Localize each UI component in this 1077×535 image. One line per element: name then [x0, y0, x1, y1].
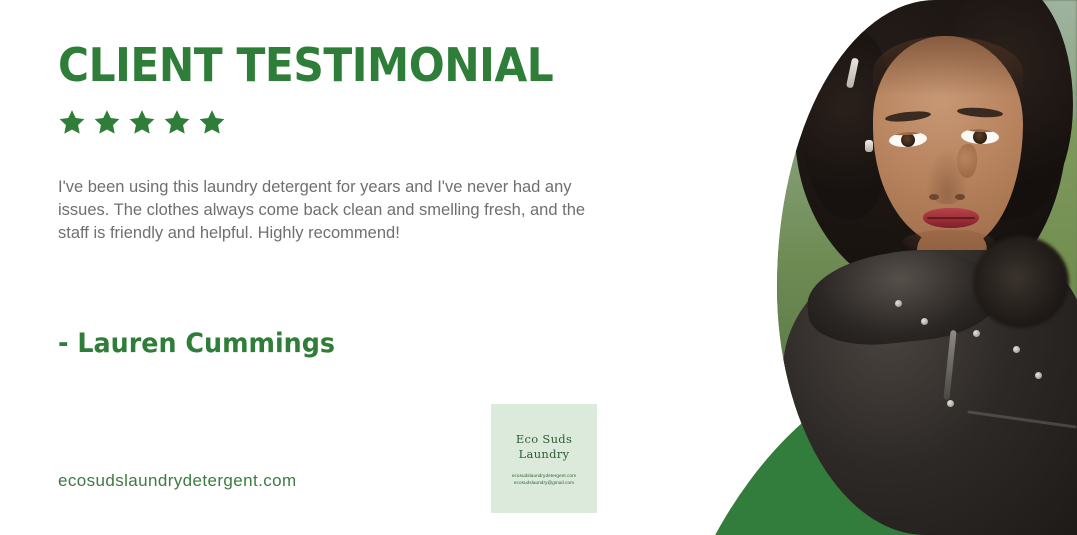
- brand-contact-website: ecosudslaundrydetergent.com: [512, 472, 576, 479]
- star-icon: [128, 108, 156, 136]
- testimonial-quote: I've been using this laundry detergent f…: [58, 176, 606, 245]
- brand-name-line-1: Eco Suds: [516, 432, 572, 446]
- page-title: CLIENT TESTIMONIAL: [58, 38, 553, 92]
- testimonial-author: - Lauren Cummings: [58, 328, 335, 359]
- brand-name-line-2: Laundry: [519, 447, 570, 461]
- brand-contact-email: ecosudslaundry@gmail.com: [514, 479, 574, 486]
- star-rating: [58, 108, 226, 136]
- ear: [957, 144, 977, 178]
- eye-right: [961, 128, 1000, 145]
- portrait-photo: [777, 0, 1077, 535]
- brand-logo-card: Eco Suds Laundry ecosudslaundrydetergent…: [491, 404, 597, 513]
- fur-trim: [973, 236, 1069, 328]
- website-url[interactable]: ecosudslaundrydetergent.com: [58, 471, 297, 491]
- star-icon: [58, 108, 86, 136]
- star-icon: [198, 108, 226, 136]
- star-icon: [163, 108, 191, 136]
- lips: [923, 208, 979, 228]
- earring: [865, 140, 873, 152]
- star-icon: [93, 108, 121, 136]
- eye-left: [889, 131, 928, 149]
- brand-name: Eco Suds Laundry: [516, 432, 572, 462]
- testimonial-canvas: CLIENT TESTIMONIAL I've been using this …: [0, 0, 1077, 535]
